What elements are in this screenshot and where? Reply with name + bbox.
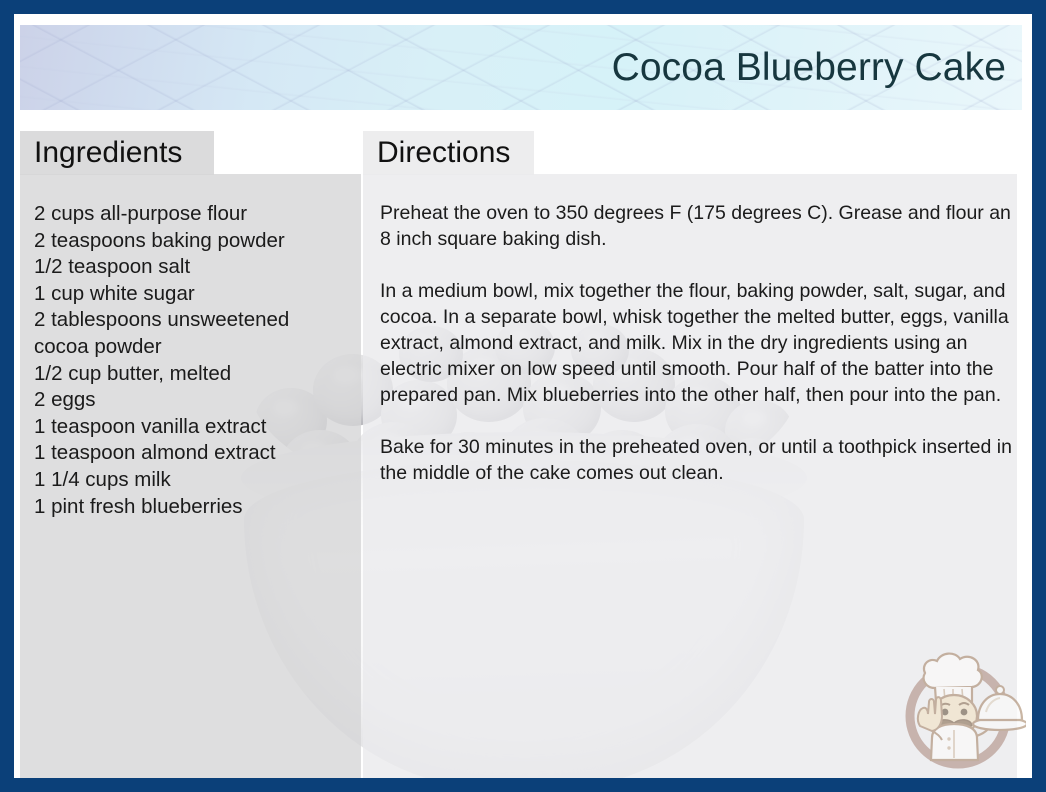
list-item: 1/2 cup butter, melted (34, 361, 354, 388)
list-item: 1 1/4 cups milk (34, 467, 354, 494)
list-item: 2 tablespoons unsweetened cocoa powder (34, 307, 354, 360)
list-item: 1 teaspoon vanilla extract (34, 414, 354, 441)
recipe-title: Cocoa Blueberry Cake (612, 46, 1006, 90)
directions-heading-tab: Directions (363, 131, 534, 175)
recipe-card: Cocoa Blueberry Cake (0, 0, 1046, 792)
directions-paragraph: Preheat the oven to 350 degrees F (175 d… (380, 200, 1018, 252)
card-page: Cocoa Blueberry Cake (14, 14, 1032, 778)
list-item: 2 teaspoons baking powder (34, 228, 354, 255)
card-border-left (0, 0, 14, 792)
chef-with-cloche-logo (890, 640, 1026, 772)
list-item: 1/2 teaspoon salt (34, 254, 354, 281)
card-border-right (1032, 0, 1046, 792)
directions-heading: Directions (363, 136, 510, 170)
list-item: 2 cups all-purpose flour (34, 201, 354, 228)
directions-paragraph: Bake for 30 minutes in the preheated ove… (380, 434, 1018, 486)
list-item: 1 cup white sugar (34, 281, 354, 308)
card-border-top (0, 0, 1046, 14)
list-item: 1 pint fresh blueberries (34, 494, 354, 521)
directions-text: Preheat the oven to 350 degrees F (175 d… (380, 200, 1018, 486)
header-banner: Cocoa Blueberry Cake (20, 25, 1022, 110)
list-item: 2 eggs (34, 387, 354, 414)
ingredients-heading-tab: Ingredients (20, 131, 214, 175)
ingredients-heading: Ingredients (20, 136, 182, 170)
ingredients-list: 2 cups all-purpose flour 2 teaspoons bak… (34, 201, 354, 520)
directions-paragraph: In a medium bowl, mix together the flour… (380, 278, 1018, 408)
list-item: 1 teaspoon almond extract (34, 440, 354, 467)
card-border-bottom (0, 778, 1046, 792)
